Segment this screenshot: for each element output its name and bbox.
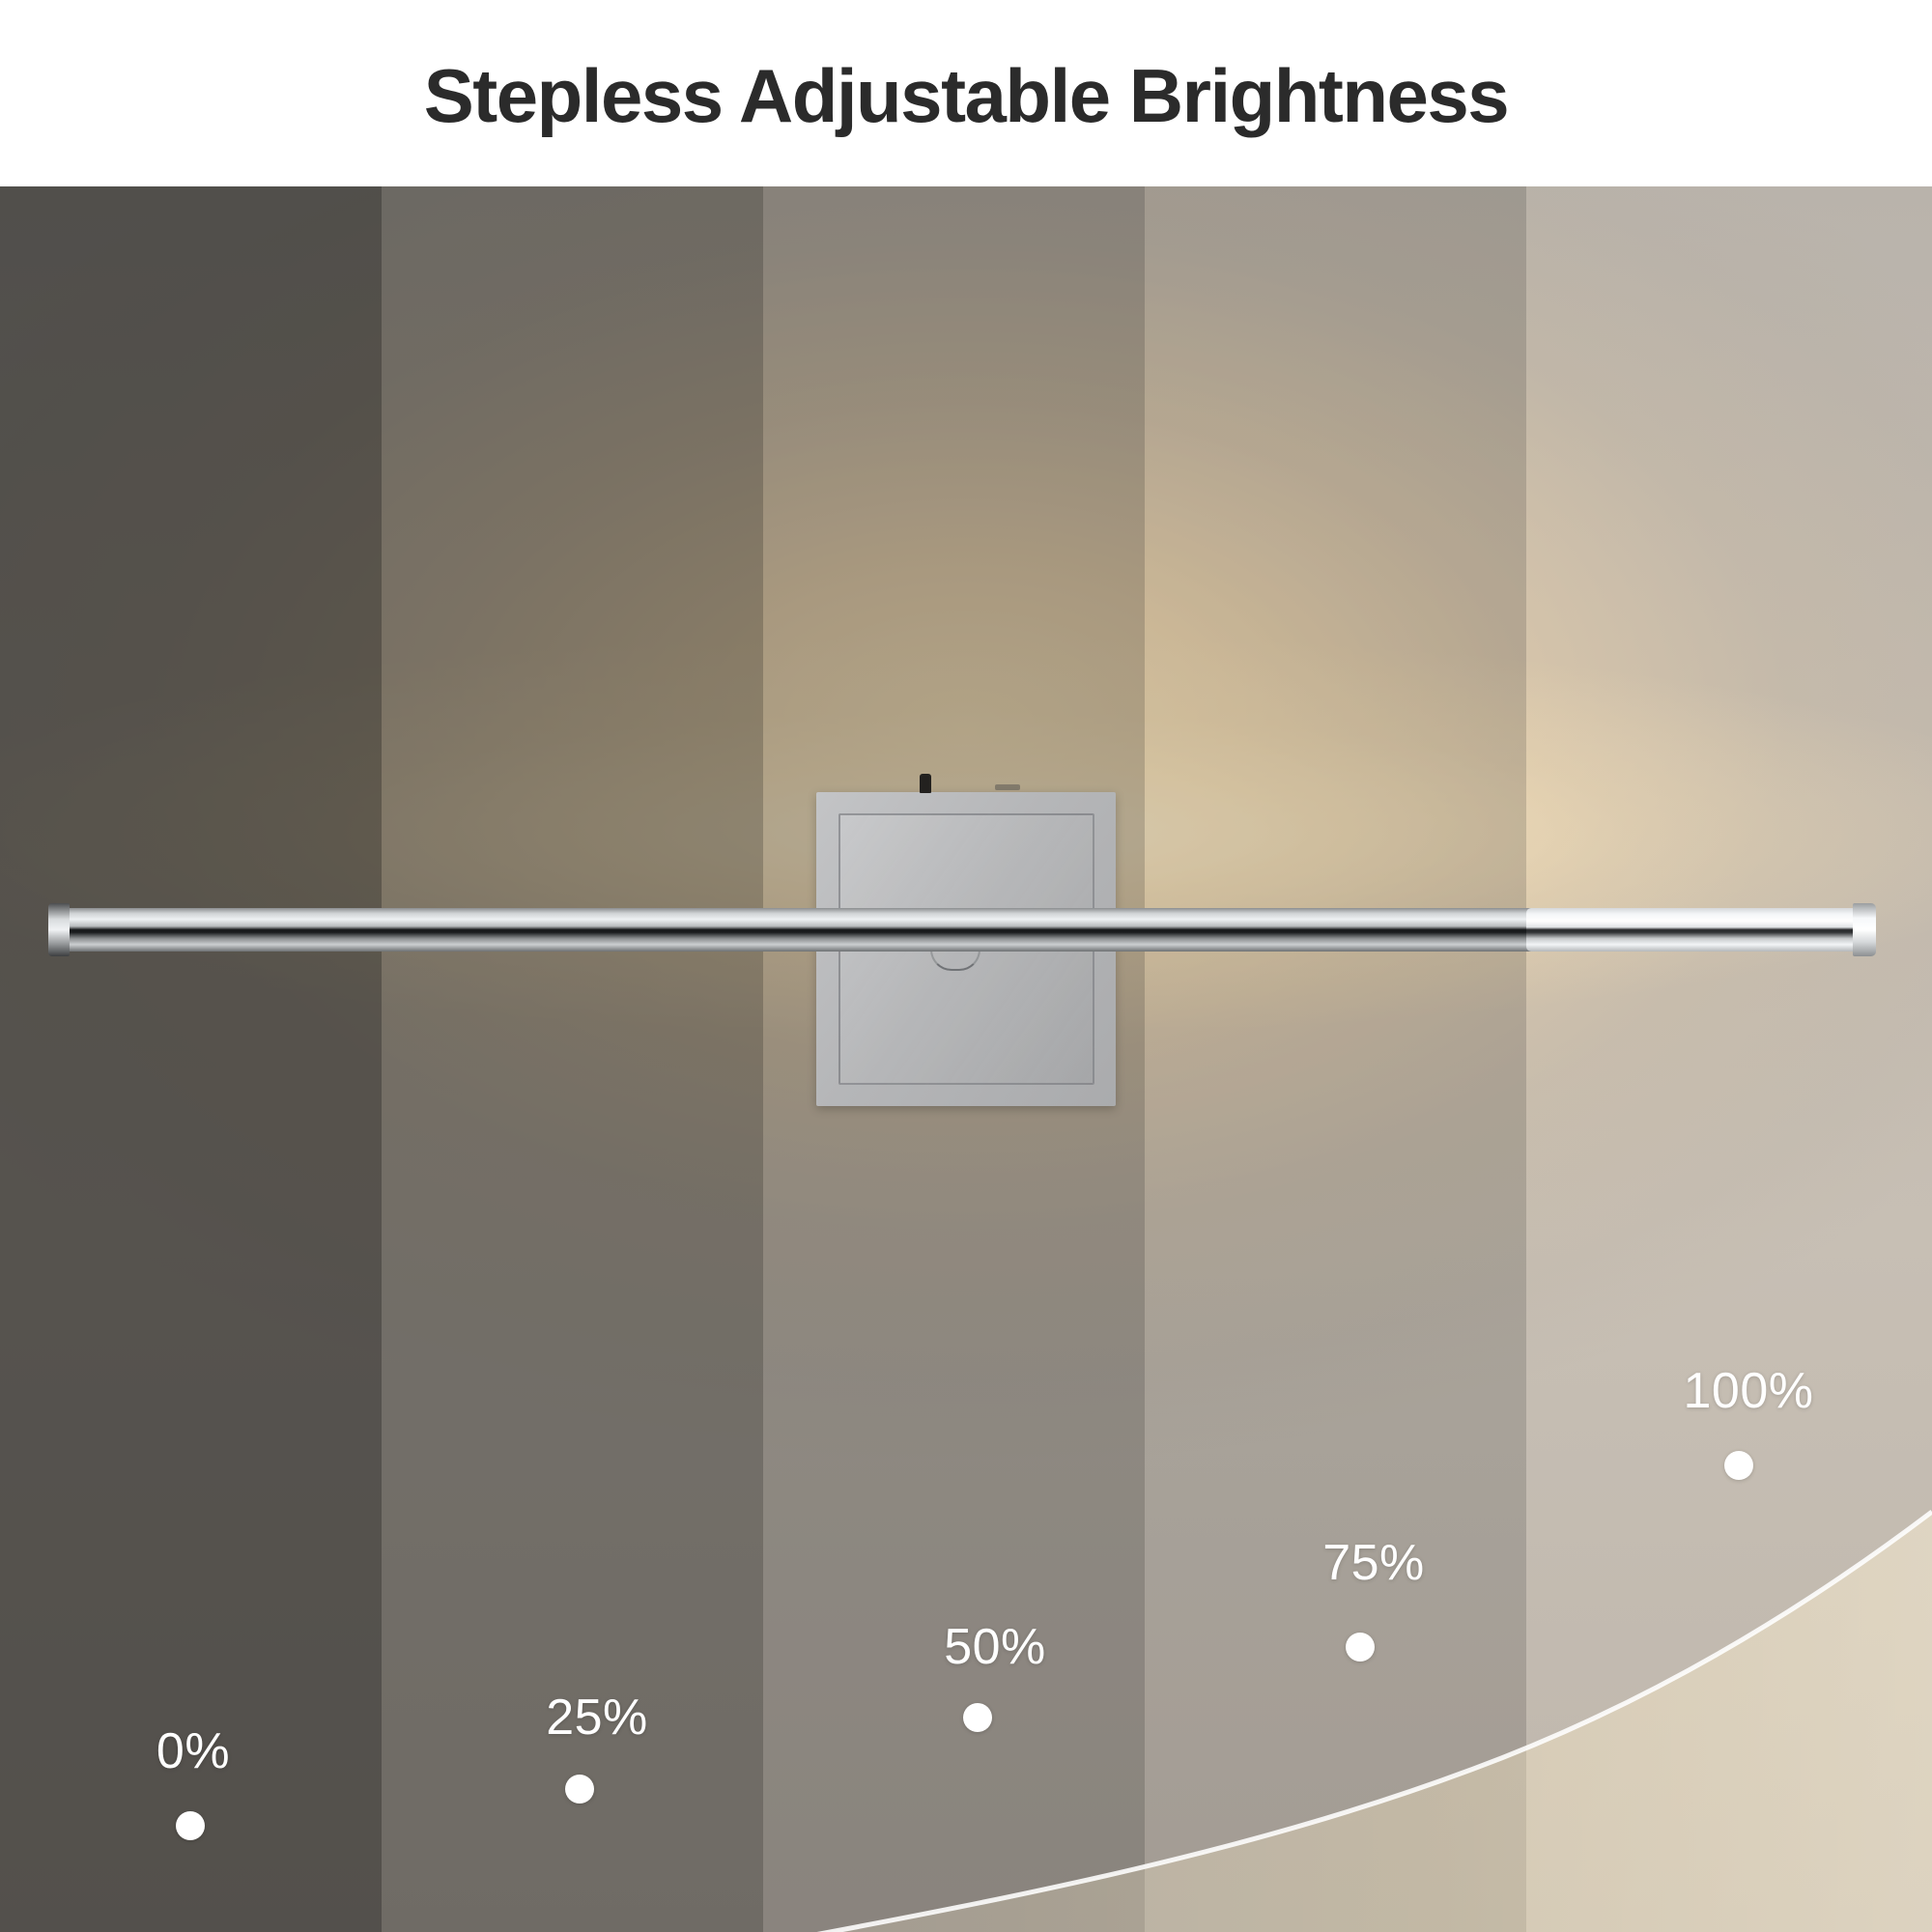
scene: 0%25%50%75%100%: [0, 186, 1932, 1932]
band-75: [1145, 186, 1526, 1932]
header-bar: Stepless Adjustable Brightness: [0, 0, 1932, 186]
brightness-label-0: 0%: [156, 1722, 230, 1780]
brightness-label-100: 100%: [1684, 1362, 1814, 1420]
band-100: [1526, 186, 1932, 1932]
brightness-label-50: 50%: [944, 1618, 1046, 1676]
brightness-dot-100[interactable]: [1724, 1451, 1753, 1480]
band-0: [0, 186, 382, 1932]
page-title: Stepless Adjustable Brightness: [424, 58, 1508, 133]
brightness-dot-0[interactable]: [176, 1811, 205, 1840]
brightness-label-25: 25%: [546, 1689, 648, 1747]
brightness-dot-75[interactable]: [1346, 1633, 1375, 1662]
band-25: [382, 186, 763, 1932]
brightness-dot-50[interactable]: [963, 1703, 992, 1732]
brightness-label-75: 75%: [1322, 1534, 1425, 1592]
brightness-dot-25[interactable]: [565, 1775, 594, 1804]
product-feature-image: Stepless Adjustable Brightness: [0, 0, 1932, 1932]
